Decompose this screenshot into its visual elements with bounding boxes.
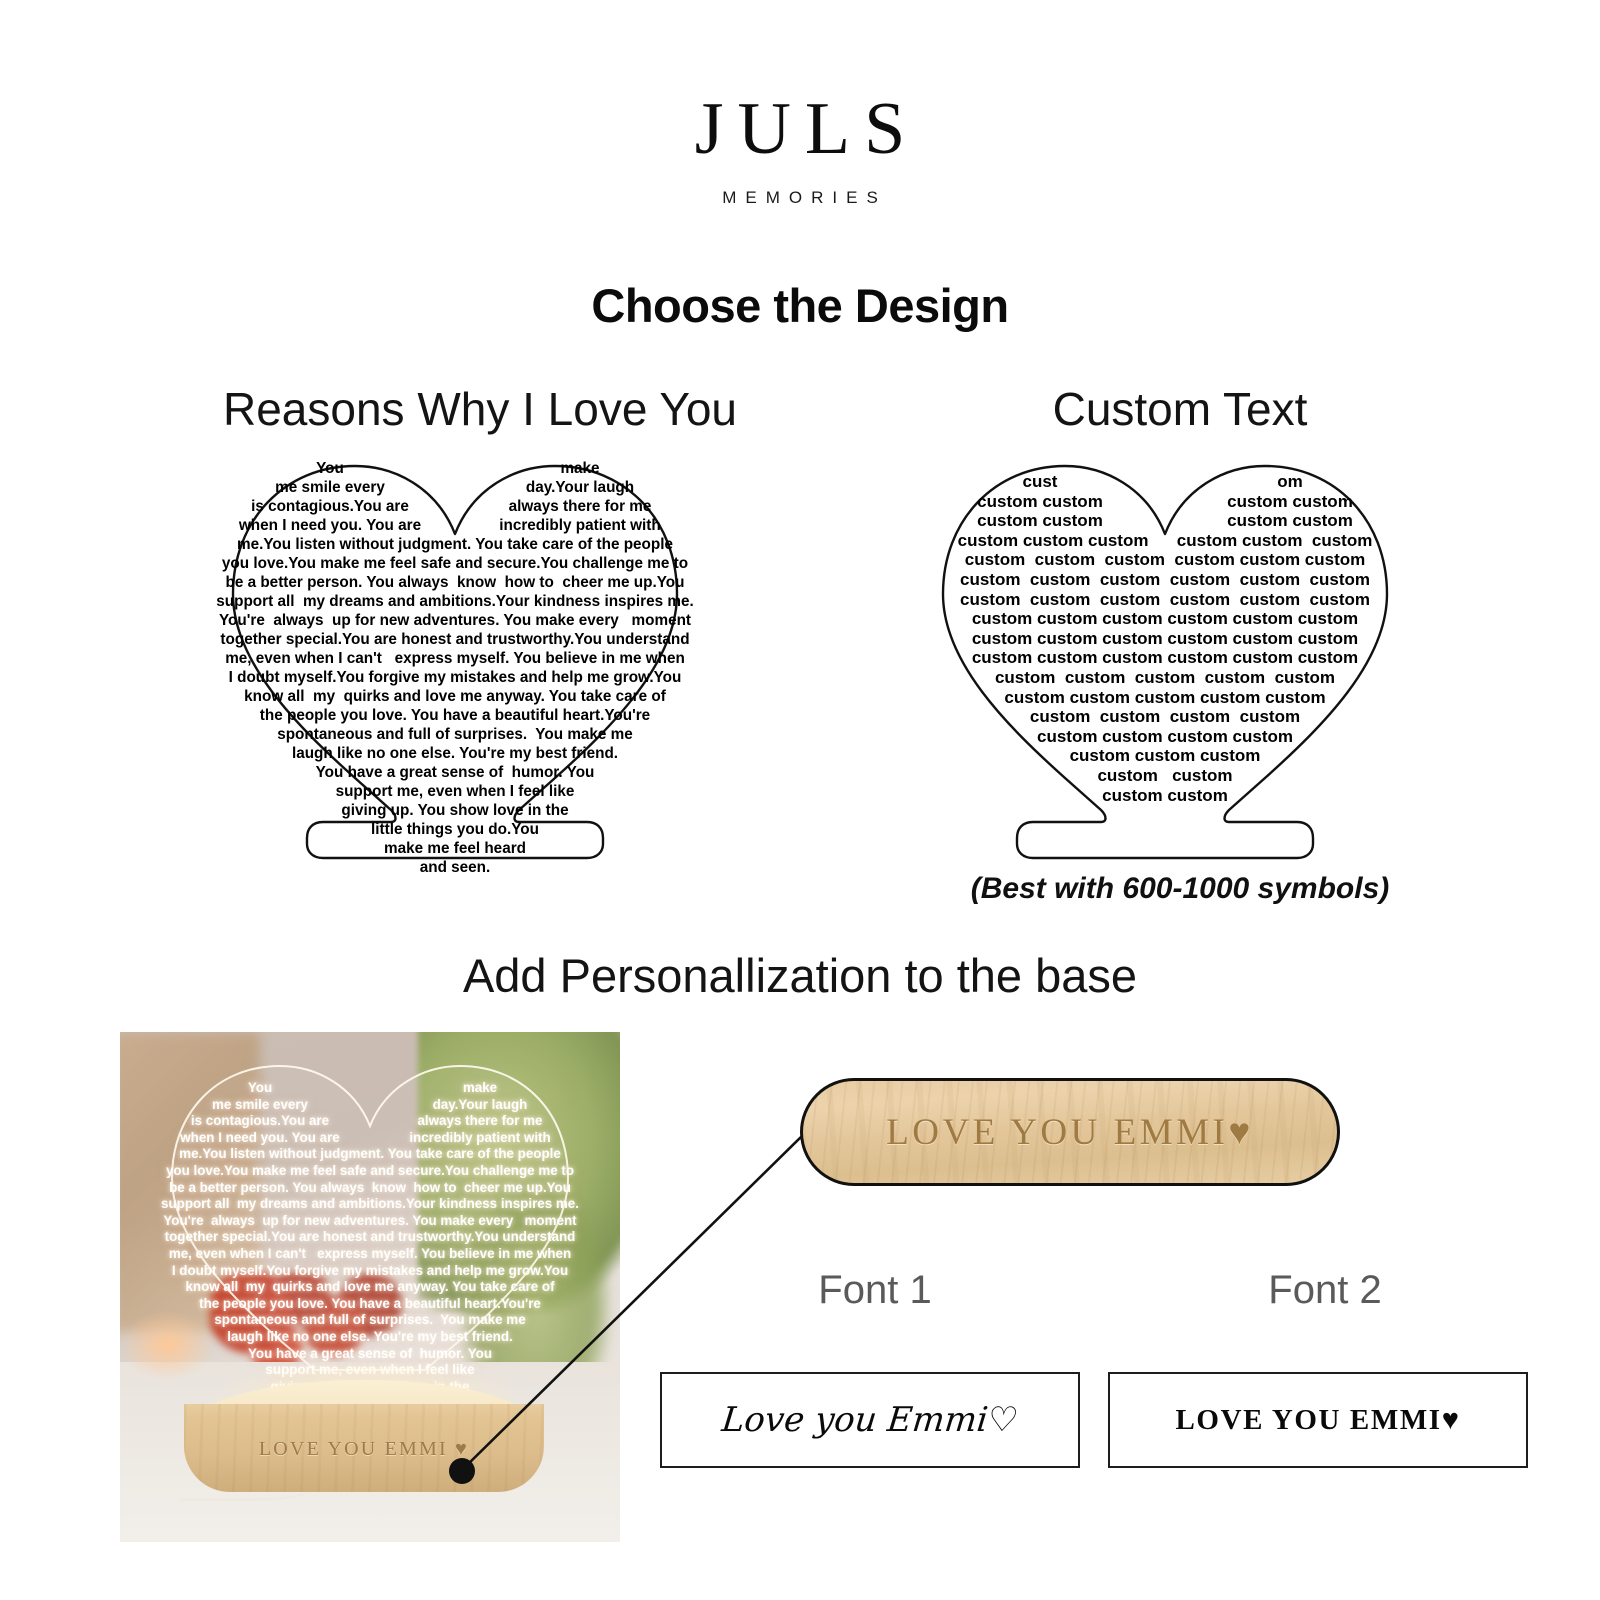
photo-heart-text-line: You have a great sense of humor. You	[150, 1346, 590, 1363]
photo-heart-text-line: You're always up for new adventures. You…	[150, 1213, 590, 1230]
personalization-heading: Add Personallization to the base	[0, 948, 1600, 1003]
font-option-2-sample: LOVE YOU EMMI♥	[1175, 1404, 1460, 1437]
product-photo: Youmakeme smile everyday.Your laughis co…	[120, 1032, 620, 1542]
page-title: Choose the Design	[0, 278, 1600, 333]
photo-heart-lobe-row: Youmake	[150, 1080, 590, 1097]
photo-heart-text-line: spontaneous and full of surprises. You m…	[150, 1312, 590, 1329]
design-option-reasons-heart[interactable]: You make me smile everyday.Your laughis …	[205, 448, 705, 868]
photo-wooden-base: LOVE YOU EMMI ♥	[184, 1380, 544, 1498]
brand-tagline: MEMORIES	[0, 188, 1600, 208]
photo-heart-lobe-line: incredibly patient with	[370, 1130, 590, 1147]
photo-heart-lobe-line: always there for me	[370, 1113, 590, 1130]
engraved-plaque-preview: LOVE YOU EMMI♥	[800, 1078, 1340, 1186]
photo-heart-text-line: support all my dreams and ambitions.Your…	[150, 1196, 590, 1213]
product-listing-page: JULS MEMORIES Choose the Design Reasons …	[0, 0, 1600, 1600]
heart-outline-shape	[915, 448, 1415, 868]
heart-outline-shape	[205, 448, 705, 868]
photo-heart-lobe-row: when I need you. You areincredibly patie…	[150, 1130, 590, 1147]
photo-heart-lobe-line: day.Your laugh	[370, 1097, 590, 1114]
photo-heart-lobe-row: is contagious.You arealways there for me	[150, 1113, 590, 1130]
photo-heart-text-line: me, even when I can't express myself. Yo…	[150, 1246, 590, 1263]
brand-name: JULS	[0, 92, 1600, 166]
photo-heart-lobe-line: You	[150, 1080, 370, 1097]
plaque-engraved-text: LOVE YOU EMMI♥	[803, 1111, 1337, 1154]
photo-heart-text-line: together special.You are honest and trus…	[150, 1229, 590, 1246]
font-option-1-box[interactable]: Love you Emmi♡	[660, 1372, 1080, 1468]
photo-heart-text-line: be a better person. You always know how …	[150, 1180, 590, 1197]
photo-heart-text-line: know all my quirks and love me anyway. Y…	[150, 1279, 590, 1296]
photo-heart-lobe-line: make	[370, 1080, 590, 1097]
photo-heart-lobe-line: when I need you. You are	[150, 1130, 370, 1147]
design-option-title-reasons: Reasons Why I Love You	[110, 382, 850, 436]
photo-heart-text-line: you love.You make me feel safe and secur…	[150, 1163, 590, 1180]
photo-heart-text-line: I doubt myself.You forgive my mistakes a…	[150, 1263, 590, 1280]
photo-heart-text-line: me.You listen without judgment. You take…	[150, 1146, 590, 1163]
photo-heart-lobe-line: is contagious.You are	[150, 1113, 370, 1130]
font-option-1-label: Font 1	[660, 1268, 1090, 1313]
design-option-custom-heart[interactable]: cust om custom customcustom customcustom…	[915, 448, 1415, 868]
photo-acrylic-heart: Youmakeme smile everyday.Your laughis co…	[150, 1050, 590, 1410]
font-option-1-sample: Love you Emmi♡	[720, 1400, 1020, 1440]
brand-logo: JULS MEMORIES	[0, 92, 1600, 208]
design-option-title-custom: Custom Text	[860, 382, 1500, 436]
font-option-2-box[interactable]: LOVE YOU EMMI♥	[1108, 1372, 1528, 1468]
photo-base-engraving: LOVE YOU EMMI ♥	[184, 1438, 544, 1461]
photo-heart-lobe-line: me smile every	[150, 1097, 370, 1114]
photo-heart-text-line: laugh like no one else. You're my best f…	[150, 1329, 590, 1346]
font-option-2-label: Font 2	[1110, 1268, 1540, 1313]
photo-heart-lobe-row: me smile everyday.Your laugh	[150, 1097, 590, 1114]
symbol-count-note: (Best with 600-1000 symbols)	[860, 872, 1500, 906]
photo-heart-text-line: the people you love. You have a beautifu…	[150, 1296, 590, 1313]
